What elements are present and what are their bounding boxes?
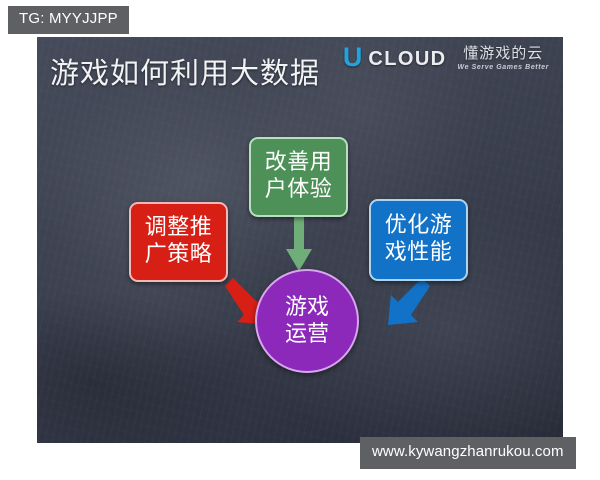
node-line: 运营 <box>285 321 329 349</box>
diagram: 改善用 户体验 调整推 广策略 优化游 戏性能 游戏 运营 <box>37 37 563 443</box>
node-line: 户体验 <box>265 177 333 204</box>
node-line: 游戏 <box>285 294 329 322</box>
node-improve-experience[interactable]: 改善用 户体验 <box>249 137 348 217</box>
node-line: 广策略 <box>145 242 213 269</box>
blue-arrow-icon <box>376 282 432 334</box>
node-line: 戏性能 <box>385 240 453 267</box>
site-watermark-banner: www.kywangzhanrukou.com <box>360 437 576 469</box>
node-line: 改善用 <box>265 150 333 177</box>
slide-canvas: 游戏如何利用大数据 U CLOUD 懂游戏的云 We Serve Games B… <box>37 37 563 443</box>
node-line: 调整推 <box>145 215 213 242</box>
green-arrow-icon <box>285 215 313 273</box>
node-line: 优化游 <box>385 213 453 240</box>
node-adjust-promotion[interactable]: 调整推 广策略 <box>129 202 228 282</box>
node-game-operations[interactable]: 游戏 运营 <box>255 269 359 373</box>
tg-watermark-banner: TG: MYYJJPP <box>8 6 129 34</box>
node-optimize-performance[interactable]: 优化游 戏性能 <box>369 199 468 281</box>
